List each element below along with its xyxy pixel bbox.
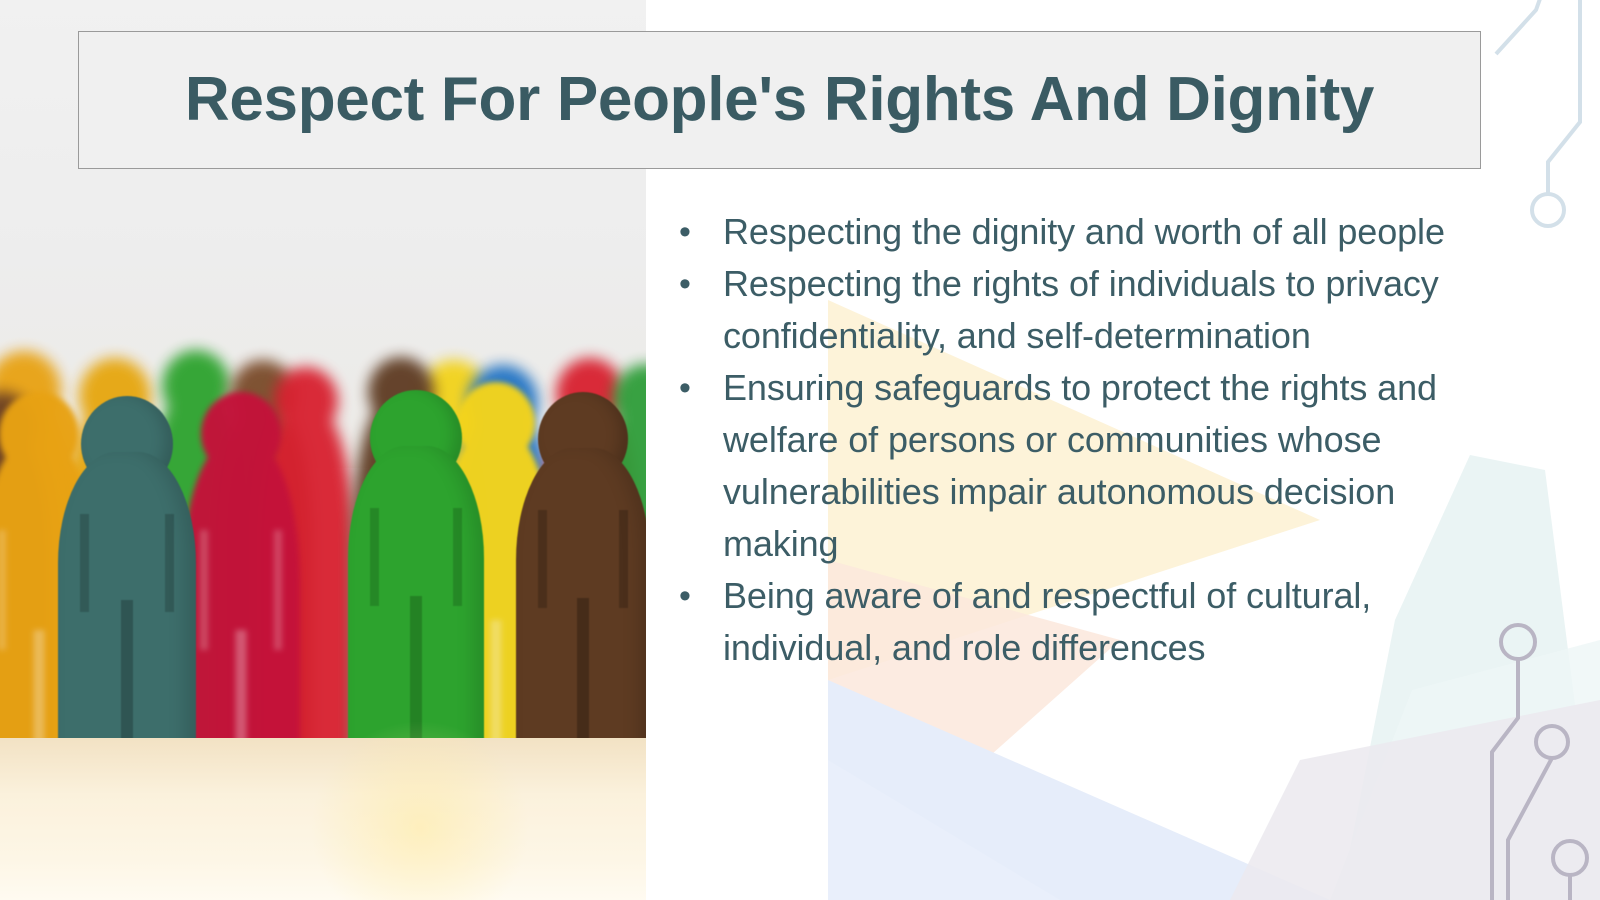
- bullet-list: • Respecting the dignity and worth of al…: [668, 206, 1478, 674]
- deco-polygon-grey: [1230, 700, 1600, 900]
- circuit-node: [1501, 625, 1535, 659]
- deco-triangle-blue: [828, 680, 1330, 900]
- bullet-text: Ensuring safeguards to protect the right…: [723, 362, 1478, 570]
- bullet-text: Respecting the dignity and worth of all …: [723, 206, 1478, 258]
- figurine-front-brown: [516, 448, 646, 778]
- bullet-marker-icon: •: [668, 362, 723, 414]
- circuit-trace: [1548, 0, 1580, 194]
- circuit-trace: [1508, 758, 1552, 900]
- bullet-marker-icon: •: [668, 206, 723, 258]
- page-title: Respect For People's Rights And Dignity: [185, 69, 1374, 131]
- photo-table-highlight: [310, 720, 530, 900]
- bullet-marker-icon: •: [668, 570, 723, 622]
- list-item: • Ensuring safeguards to protect the rig…: [668, 362, 1478, 570]
- circuit-trace: [1496, 0, 1546, 54]
- bullet-marker-icon: •: [668, 258, 723, 310]
- circuit-node: [1536, 726, 1568, 758]
- slide-canvas: Respect For People's Rights And Dignity …: [0, 0, 1600, 900]
- figurine-front-teal: [58, 452, 196, 780]
- bullet-text: Respecting the rights of individuals to …: [723, 258, 1478, 362]
- deco-wedge-blue: [828, 760, 1060, 900]
- circuit-trace: [1492, 659, 1518, 900]
- circuit-node: [1553, 841, 1587, 875]
- bullet-text: Being aware of and respectful of cultura…: [723, 570, 1478, 674]
- list-item: • Respecting the dignity and worth of al…: [668, 206, 1478, 258]
- title-box: Respect For People's Rights And Dignity: [78, 31, 1481, 169]
- deco-polygon-teal-2: [1330, 640, 1600, 900]
- list-item: • Being aware of and respectful of cultu…: [668, 570, 1478, 674]
- list-item: • Respecting the rights of individuals t…: [668, 258, 1478, 362]
- circuit-node: [1532, 194, 1564, 226]
